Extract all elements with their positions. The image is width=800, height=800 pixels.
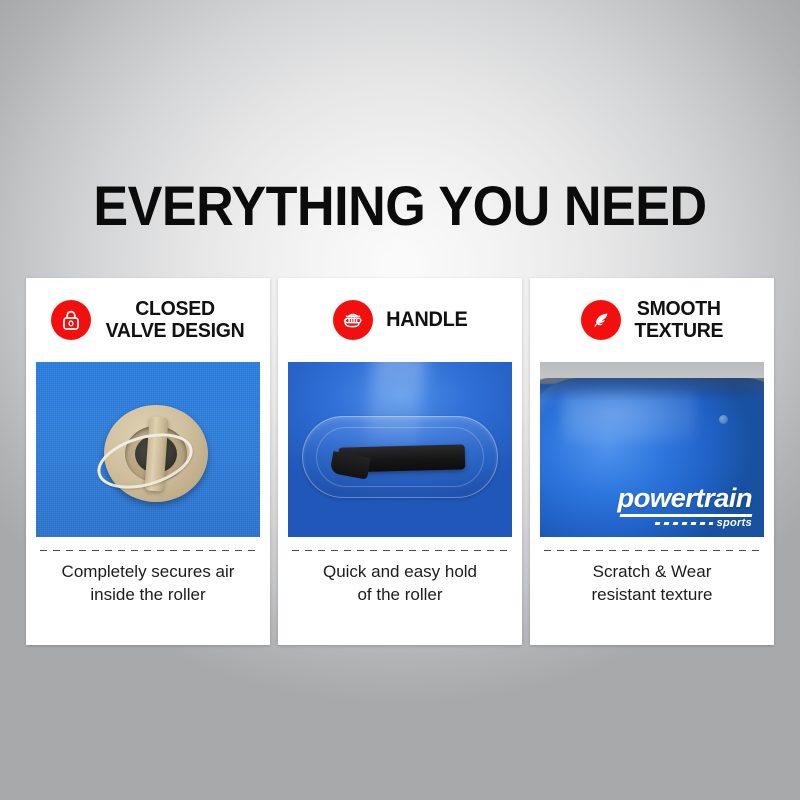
surface-speck	[719, 415, 728, 424]
caption-line1: Completely secures air	[62, 562, 235, 581]
card-title: CLOSED VALVE DESIGN	[105, 298, 244, 342]
logo-subline: sports	[620, 518, 752, 529]
product-photo-roller-surface: powertrain sports	[540, 362, 764, 537]
product-photo-valve	[36, 362, 260, 537]
photo-highlight	[562, 390, 696, 443]
card-title-line1: SMOOTH	[637, 297, 721, 320]
padlock-icon	[51, 300, 91, 340]
dashed-divider	[40, 550, 256, 551]
card-title-line1: CLOSED	[135, 297, 214, 320]
dashed-divider	[292, 550, 508, 551]
logo-dash-rule	[654, 522, 713, 525]
powertrain-logo: powertrain sports	[620, 485, 752, 530]
card-title-line2: TEXTURE	[634, 319, 723, 342]
handle-strap	[339, 445, 466, 473]
card-title: SMOOTH TEXTURE	[634, 298, 723, 342]
brand-subname: sports	[717, 518, 752, 529]
caption-line1: Scratch & Wear	[593, 562, 712, 581]
feature-card-smooth-texture: SMOOTH TEXTURE powertrain sports	[530, 278, 774, 645]
infographic-canvas: EVERYTHING YOU NEED CLOSED VALVE DESIGN	[0, 0, 800, 800]
brand-name: powertrain	[617, 485, 752, 512]
logo-underline	[620, 514, 753, 517]
card-caption: Completely secures air inside the roller	[62, 560, 235, 606]
card-header: SMOOTH TEXTURE	[530, 278, 774, 362]
caption-block: Completely secures air inside the roller	[26, 537, 270, 645]
feature-card-closed-valve-design: CLOSED VALVE DESIGN Completely secures a…	[26, 278, 270, 645]
card-header: CLOSED VALVE DESIGN	[26, 278, 270, 362]
card-title: HANDLE	[386, 309, 467, 331]
product-photo-handle	[288, 362, 512, 537]
feature-card-handle: HANDLE Quick and easy hold of the roller	[278, 278, 522, 645]
caption-line2: inside the roller	[90, 585, 205, 604]
feature-card-row: CLOSED VALVE DESIGN Completely secures a…	[26, 278, 774, 645]
caption-block: Quick and easy hold of the roller	[278, 537, 522, 645]
page-title: EVERYTHING YOU NEED	[28, 176, 772, 236]
card-header: HANDLE	[278, 278, 522, 362]
caption-line2: resistant texture	[592, 585, 713, 604]
card-title-line2: VALVE DESIGN	[105, 319, 244, 342]
gripping-hand-icon	[333, 300, 373, 340]
card-caption: Scratch & Wear resistant texture	[592, 560, 713, 606]
dashed-divider	[544, 550, 760, 551]
caption-block: Scratch & Wear resistant texture	[530, 537, 774, 645]
caption-line2: of the roller	[357, 585, 442, 604]
feather-icon	[581, 300, 621, 340]
card-caption: Quick and easy hold of the roller	[323, 560, 477, 606]
caption-line1: Quick and easy hold	[323, 562, 477, 581]
